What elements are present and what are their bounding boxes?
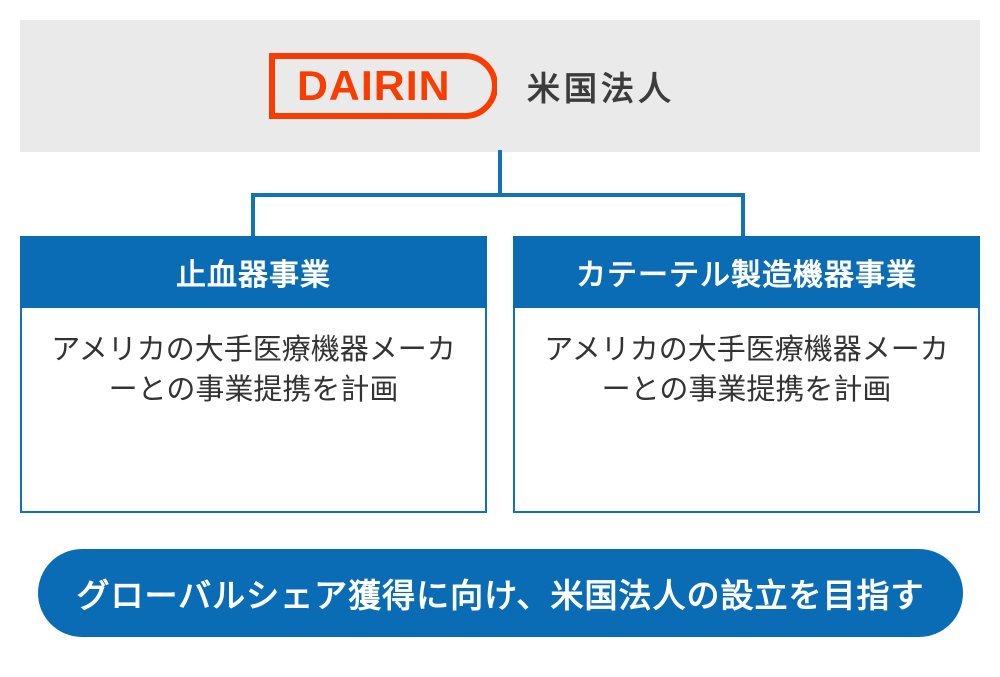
business-card-hemostasis: 止血器事業 アメリカの大手医療機器メーカーとの事業提携を計画 xyxy=(20,236,487,513)
dairin-logo-text: DAIRIN xyxy=(267,53,500,119)
business-card-description: アメリカの大手医療機器メーカーとの事業提携を計画 xyxy=(46,330,461,410)
business-card-catheter: カテーテル製造機器事業 アメリカの大手医療機器メーカーとの事業提携を計画 xyxy=(513,236,980,513)
connector-lines xyxy=(0,150,1000,242)
header-content: DAIRIN 米国法人 xyxy=(269,53,675,119)
business-card-title: カテーテル製造機器事業 xyxy=(513,236,980,308)
business-card-body: アメリカの大手医療機器メーカーとの事業提携を計画 xyxy=(22,308,485,511)
goal-banner: グローバルシェア獲得に向け、米国法人の設立を目指す xyxy=(38,549,963,637)
business-card-title: 止血器事業 xyxy=(20,236,487,308)
header-entity-label: 米国法人 xyxy=(527,62,675,110)
business-card-body: アメリカの大手医療機器メーカーとの事業提携を計画 xyxy=(515,308,978,511)
header-band: DAIRIN 米国法人 xyxy=(20,20,980,152)
dairin-logo: DAIRIN xyxy=(269,53,497,119)
business-card-description: アメリカの大手医療機器メーカーとの事業提携を計画 xyxy=(539,330,954,410)
goal-banner-text: グローバルシェア獲得に向け、米国法人の設立を目指す xyxy=(76,569,924,617)
